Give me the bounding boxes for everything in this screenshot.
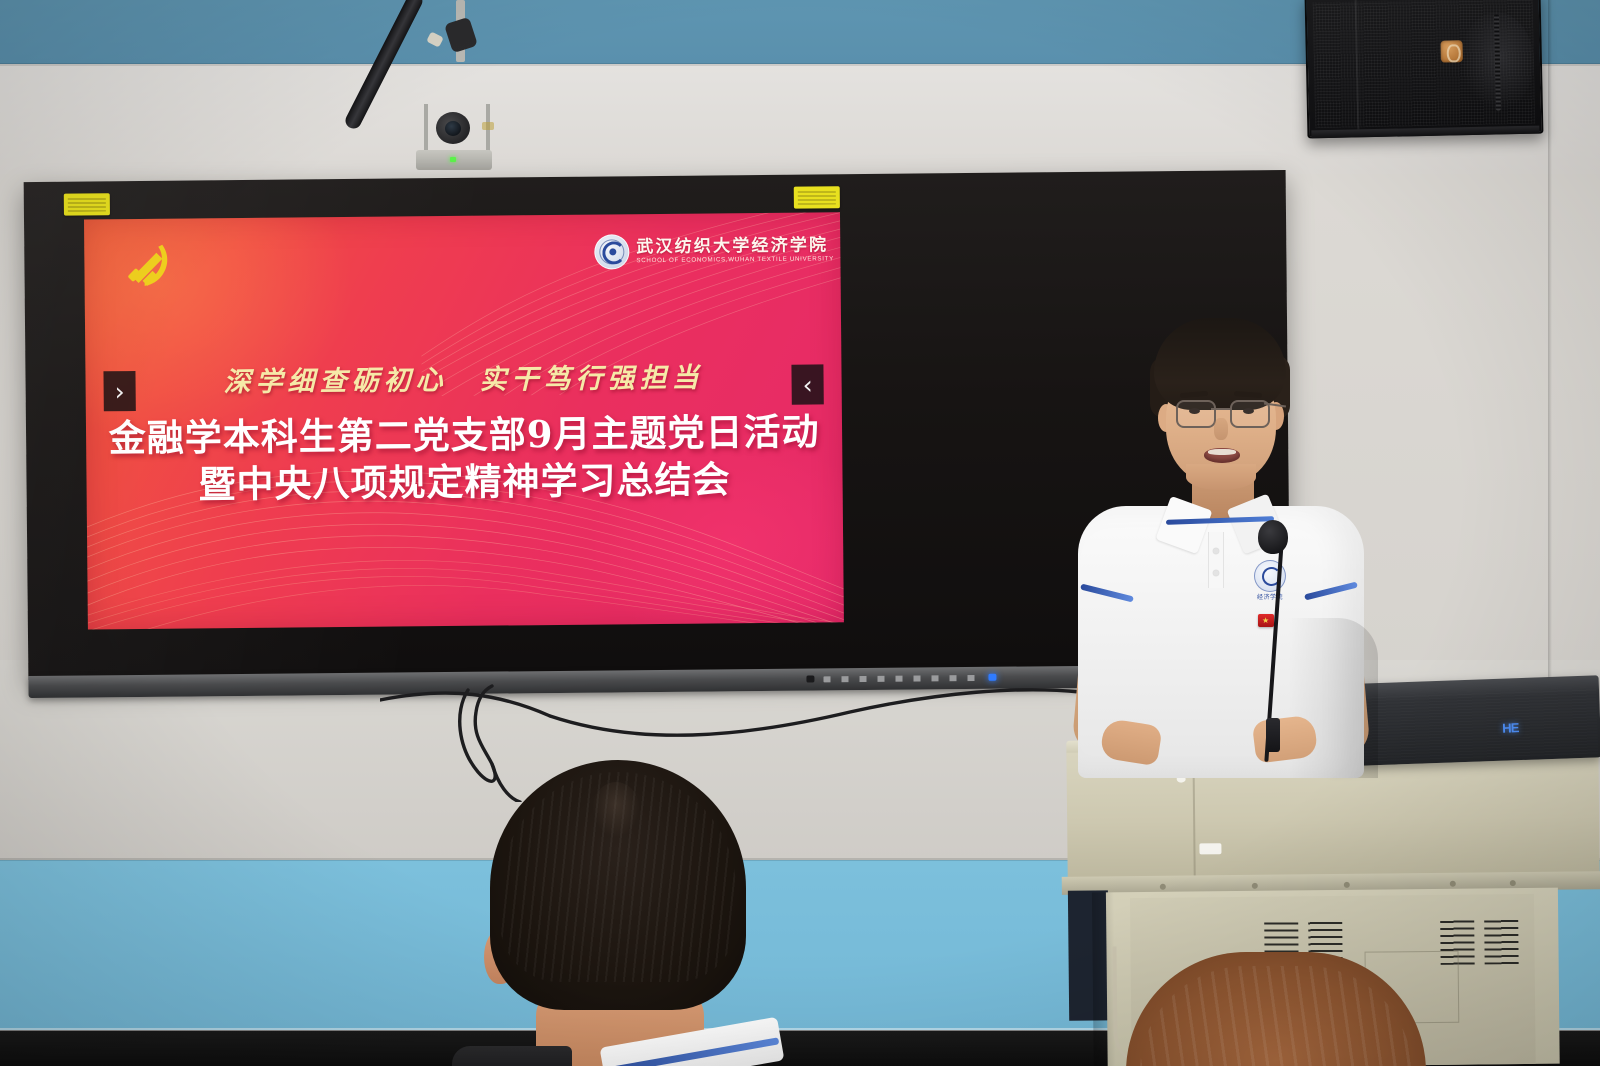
lectern-screw bbox=[1344, 882, 1350, 888]
slide-title: 金融学本科生第二党支部9月主题党日活动 暨中央八项规定精神学习总结会 bbox=[86, 408, 843, 510]
microphone-head-icon bbox=[1258, 520, 1288, 554]
student-hair-crown bbox=[592, 782, 640, 838]
presenter-chin bbox=[1186, 464, 1256, 490]
microphone-ring bbox=[426, 31, 443, 47]
university-seal-icon bbox=[594, 234, 629, 269]
microphone-connector bbox=[1266, 718, 1280, 752]
wall-speaker bbox=[1305, 0, 1544, 138]
slide-prev-chevron-icon[interactable]: › bbox=[103, 371, 135, 411]
seal-dot bbox=[609, 248, 616, 255]
gooseneck-microphone bbox=[1244, 506, 1324, 762]
school-name-chinese: 武汉纺织大学经济学院 bbox=[636, 236, 834, 255]
school-logo-text: 武汉纺织大学经济学院 SCHOOL OF ECONOMICS,WUHAN TEX… bbox=[636, 236, 834, 264]
eyeglasses-lens-left bbox=[1176, 400, 1216, 428]
lectern-screw bbox=[1450, 881, 1456, 887]
slide-subtitle: 深学细查砺初心 实干笃行强担当 bbox=[85, 354, 841, 400]
wall-stain bbox=[482, 122, 494, 130]
school-logo: 武汉纺织大学经济学院 SCHOOL OF ECONOMICS,WUHAN TEX… bbox=[594, 226, 832, 274]
presenter-teeth bbox=[1208, 449, 1236, 455]
slide-next-chevron-icon[interactable]: ‹ bbox=[791, 364, 823, 404]
slide-title-line-2: 暨中央八项规定精神学习总结会 bbox=[86, 456, 842, 511]
sticker-text-lines bbox=[68, 197, 106, 211]
presentation-slide[interactable]: 武汉纺织大学经济学院 SCHOOL OF ECONOMICS,WUHAN TEX… bbox=[84, 212, 844, 629]
speaker-badge-icon bbox=[1440, 40, 1462, 62]
eyeglasses-bridge bbox=[1211, 408, 1231, 410]
student-shoulder bbox=[452, 1046, 572, 1066]
shirt-button bbox=[1213, 548, 1219, 554]
lectern-screw bbox=[1160, 884, 1166, 890]
school-name-english: SCHOOL OF ECONOMICS,WUHAN TEXTILE UNIVER… bbox=[636, 256, 834, 264]
sticker-text-lines bbox=[798, 190, 836, 204]
presenter: 经济学院 ★ bbox=[1058, 318, 1378, 778]
lectern-vent bbox=[1484, 916, 1519, 964]
student-foreground bbox=[452, 760, 782, 1066]
presenter-nose bbox=[1214, 418, 1228, 440]
hammer-and-sickle-icon bbox=[122, 241, 180, 292]
ceiling-mount-joint bbox=[444, 17, 478, 54]
shirt-button bbox=[1213, 570, 1219, 576]
classroom-scene: 武汉纺织大学经济学院 SCHOOL OF ECONOMICS,WUHAN TEX… bbox=[0, 0, 1600, 1066]
lectern-scuff-mark bbox=[1199, 843, 1221, 854]
speaker-badge-glyph bbox=[1447, 44, 1461, 62]
monitor-brand-logo: HE bbox=[1502, 720, 1519, 736]
bezel-sticker-left bbox=[64, 193, 110, 215]
bezel-sticker-right bbox=[794, 186, 840, 208]
audience-member bbox=[1126, 952, 1426, 1066]
ceiling-camera bbox=[404, 0, 500, 172]
presenter-hair bbox=[1154, 318, 1286, 410]
lectern-screw bbox=[1510, 880, 1516, 886]
lectern-screw bbox=[1252, 883, 1258, 889]
shirt-placket bbox=[1208, 532, 1224, 588]
camera-status-led bbox=[450, 157, 456, 162]
slide-title-line-1: 金融学本科生第二党支部9月主题党日活动 bbox=[86, 408, 842, 463]
camera-lens-icon bbox=[445, 121, 461, 136]
